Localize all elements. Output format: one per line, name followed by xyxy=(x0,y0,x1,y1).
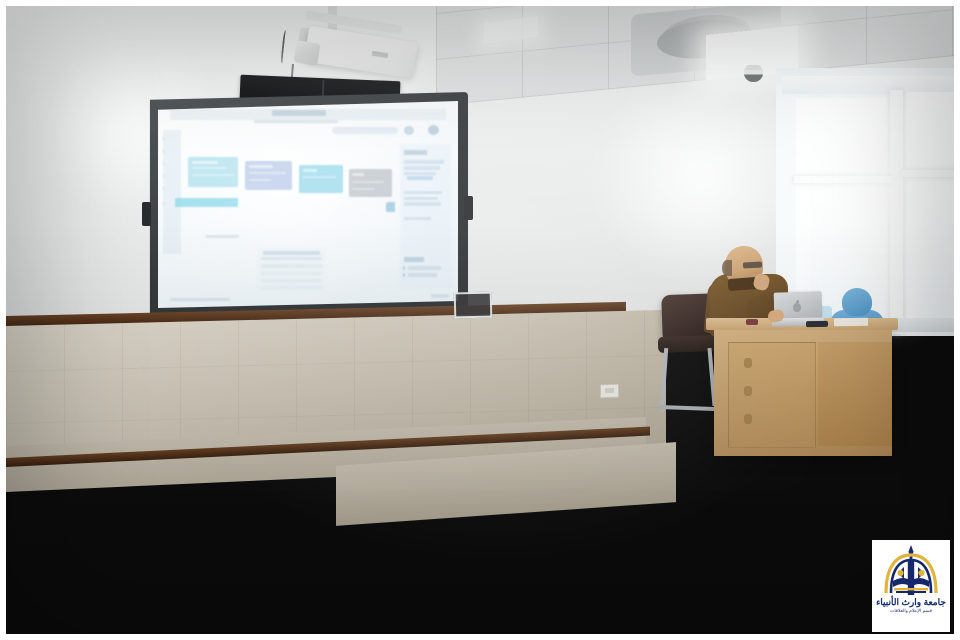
slide-calendar-widget xyxy=(257,248,326,294)
slide-title-block xyxy=(272,110,326,115)
calendar-week-1 xyxy=(261,264,322,267)
calendar-header xyxy=(263,251,321,255)
logo-department-name: قسم الإعلام والعلاقات xyxy=(890,609,932,614)
slide-page-indicator xyxy=(431,294,449,299)
panel-bullet-1 xyxy=(403,266,405,270)
card-line-1a xyxy=(192,167,227,169)
desk-phone xyxy=(806,321,828,327)
smartboard-mount-right xyxy=(464,196,473,220)
smartboard-screen[interactable] xyxy=(158,101,458,308)
calendar-week-4 xyxy=(261,286,322,289)
slide-search-field xyxy=(332,127,398,134)
calendar-weekday-row xyxy=(261,257,322,260)
university-crest-icon xyxy=(880,543,942,601)
desk-papers xyxy=(834,318,868,327)
background-student-head xyxy=(842,288,872,316)
card-title-3 xyxy=(303,169,317,172)
slide-collapse-button xyxy=(386,202,395,211)
panel-item-2 xyxy=(408,273,438,276)
panel-line-4 xyxy=(404,191,443,194)
panel-item-1 xyxy=(408,266,442,269)
card-line-3a xyxy=(303,176,336,178)
slide-card-4 xyxy=(349,169,393,197)
slide-info-panel xyxy=(400,144,451,289)
card-line-4a xyxy=(352,181,383,183)
rail-icon-2 xyxy=(163,150,164,153)
instructor-hair xyxy=(722,260,732,276)
slide-card-2 xyxy=(245,161,292,190)
card-title-2 xyxy=(249,165,273,168)
panel-bullet-2 xyxy=(403,273,405,277)
projected-slide xyxy=(158,101,458,308)
photograph-root: جامعة وارث الأنبياء قسم الإعلام والعلاقا… xyxy=(0,0,960,640)
card-line-4b xyxy=(352,188,375,190)
rail-icon-4 xyxy=(163,175,164,178)
slide-avatar-2 xyxy=(428,125,439,135)
card-title-4 xyxy=(352,173,363,176)
apple-logo-icon xyxy=(793,303,801,312)
logo-organization-name: جامعة وارث الأنبياء xyxy=(876,598,946,607)
slide-placeholder-text xyxy=(206,235,239,238)
panel-line-3 xyxy=(404,172,437,175)
calendar-week-3 xyxy=(261,279,322,282)
instructor-eyeglasses-icon xyxy=(743,262,762,269)
slide-highlight-bar xyxy=(175,198,238,207)
card-line-2a xyxy=(249,172,286,174)
slide-avatar-1 xyxy=(404,126,414,136)
slide-footer xyxy=(170,298,230,302)
rail-icon-6 xyxy=(163,202,164,205)
university-logo-watermark: جامعة وارث الأنبياء قسم الإعلام والعلاقا… xyxy=(872,540,950,632)
panel-line-1 xyxy=(404,160,445,163)
panel-chip xyxy=(407,176,434,180)
slide-card-3 xyxy=(299,165,343,193)
card-title-1 xyxy=(192,161,218,164)
panel-line-6 xyxy=(404,202,442,205)
rail-icon-3 xyxy=(163,162,164,165)
rail-icon-1 xyxy=(163,137,164,140)
photo-inner xyxy=(6,6,954,634)
slide-side-rail xyxy=(163,130,181,254)
panel-subheading xyxy=(404,257,424,262)
smartboard-mount-left xyxy=(142,202,151,226)
card-line-1b xyxy=(192,174,234,176)
panel-line-2 xyxy=(404,166,441,169)
lecture-hall-scene xyxy=(6,6,954,634)
calendar-week-2 xyxy=(261,272,322,275)
card-line-2b xyxy=(249,179,270,181)
panel-line-5 xyxy=(404,197,439,200)
audience-area xyxy=(6,336,954,634)
slide-card-1 xyxy=(188,157,238,187)
slide-subtitle-block xyxy=(254,120,338,124)
projector-lens-icon xyxy=(293,40,320,65)
rail-icon-5 xyxy=(163,187,164,190)
panel-line-7 xyxy=(404,217,432,220)
panel-heading xyxy=(404,150,427,155)
desk-small-object xyxy=(746,319,758,325)
wall-picture-frame xyxy=(454,292,493,319)
